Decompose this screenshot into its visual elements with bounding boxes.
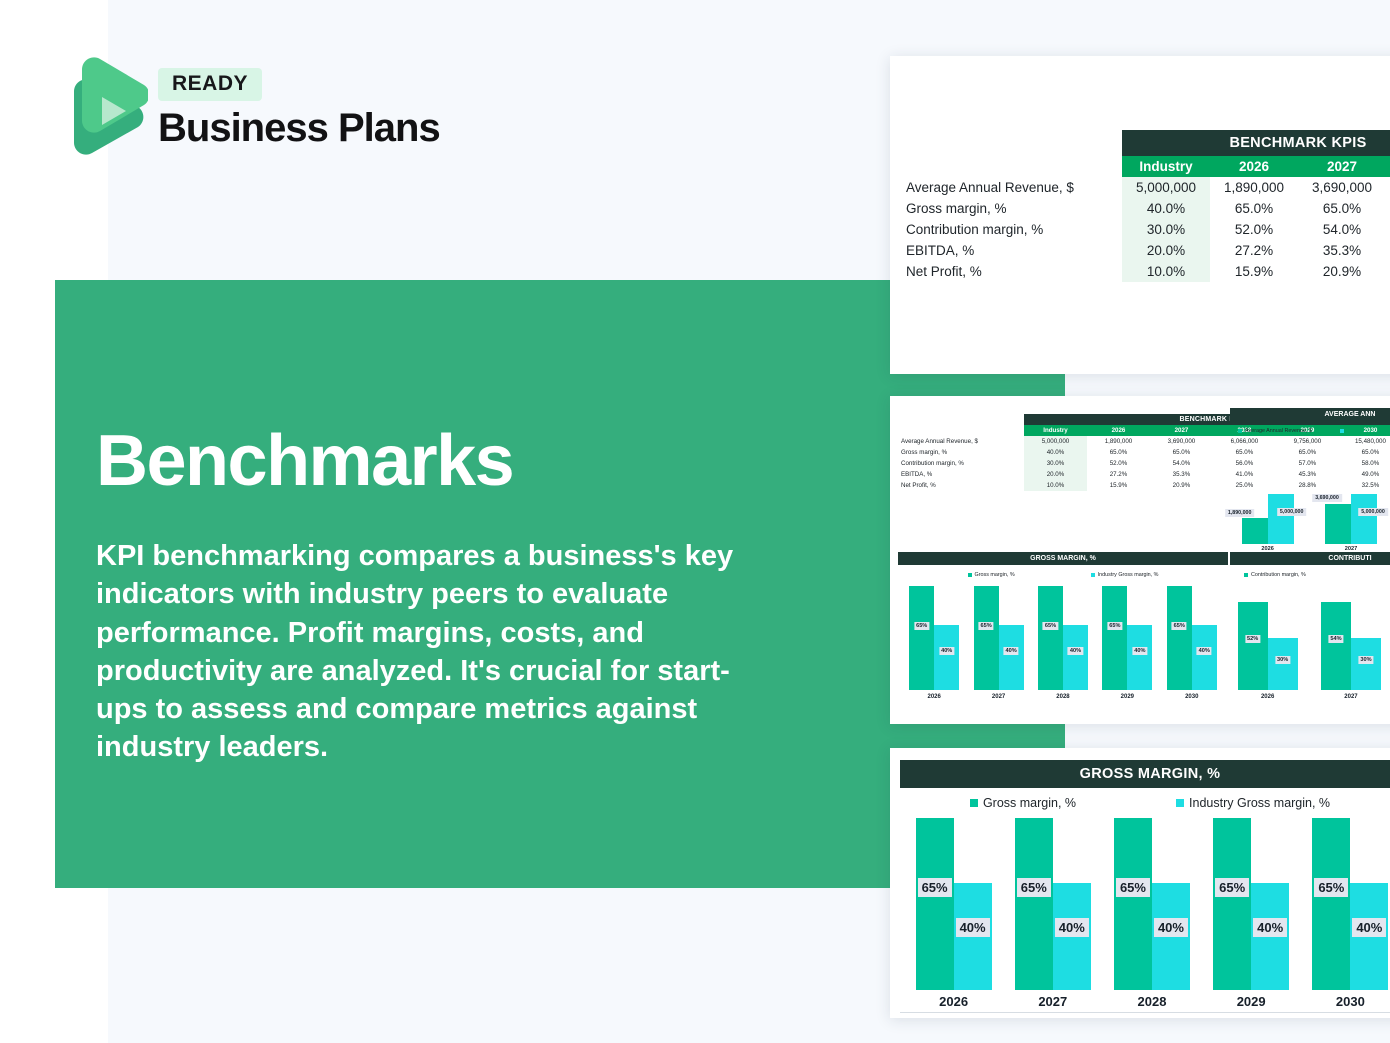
legend-swatch-icon <box>970 799 978 807</box>
col-header-industry: Industry <box>1122 156 1210 177</box>
chart-plot-area: 52% 30% 54% 30% 56% <box>1226 586 1390 690</box>
legend-swatch-icon <box>968 573 972 577</box>
chart-legend: Gross margin, % Industry Gross margin, % <box>900 794 1390 812</box>
benchmark-kpis-table: BENCHMARK KPIS Industry 2026 2027 2028 A… <box>900 130 1390 282</box>
chart-x-axis: 2026 2027 2028 2029 2030 <box>902 694 1224 700</box>
chart-title: GROSS MARGIN, % <box>898 552 1228 565</box>
legend-item: Industry Gross margin, % <box>1176 796 1330 810</box>
bar-gross-margin: 65% <box>1038 586 1063 690</box>
bar-group: 65% 40% <box>1106 818 1198 990</box>
bar-group: 3,690,000 5,000,000 <box>1310 444 1390 544</box>
bar-revenue: 3,690,000 <box>1325 504 1351 544</box>
bar-industry-gross-margin: 40% <box>1063 625 1088 690</box>
ready-badge: READY <box>158 68 262 101</box>
table-row: Average Annual Revenue, $ 5,000,000 1,89… <box>900 177 1390 198</box>
bar-contribution-margin: 54% <box>1321 602 1351 690</box>
brand-logo: READY Business Plans <box>55 50 455 160</box>
dashboard-overview-card: BENCHMARK KPIS Industry 2026 2027 2028 2… <box>890 396 1390 724</box>
table-row: EBITDA, % 20.0% 27.2% 35.3% 41.0% <box>900 240 1390 261</box>
bar-industry-gross-margin: 40% <box>934 625 959 690</box>
bar-group: 65% 40% <box>1096 586 1158 690</box>
bar-group: 65% 40% <box>968 586 1030 690</box>
bar-industry-gross-margin: 40% <box>1053 883 1091 990</box>
bar-industry-gross-margin: 40% <box>1192 625 1217 690</box>
brand-name: Business Plans <box>158 107 440 149</box>
chart-plot-area: 1,890,000 5,000,000 3,690,000 5,000,000 <box>1226 444 1390 544</box>
bar-industry-gross-margin: 40% <box>954 883 992 990</box>
chart-baseline <box>900 1012 1390 1013</box>
page-description: KPI benchmarking compares a business's k… <box>96 537 756 767</box>
legend-item: Contribution margin, % <box>1244 572 1306 578</box>
bar-industry-gross-margin: 40% <box>1251 883 1289 990</box>
chart-x-axis: 2026 2027 2028 <box>1226 694 1390 700</box>
bar-industry: 5,000,000 <box>1351 494 1377 544</box>
table-row: Gross margin, % 40.0% 65.0% 65.0% 65.0% <box>900 198 1390 219</box>
bar-group: 65% 40% <box>1205 818 1297 990</box>
legend-item: Industry Gross margin, % <box>1091 572 1159 578</box>
chart-title: CONTRIBUTI <box>1230 552 1390 565</box>
chart-legend: Average Annual Revenue, $ <box>1230 426 1390 436</box>
legend-item <box>1340 429 1347 433</box>
gross-margin-chart-card: GROSS MARGIN, % Gross margin, % Industry… <box>890 748 1390 1018</box>
table-row: Contribution margin, % 30.0% 52.0% 54.0%… <box>900 219 1390 240</box>
table-title: BENCHMARK KPIS <box>1122 130 1390 156</box>
bar-industry-contribution-margin: 30% <box>1268 638 1298 690</box>
bar-group: 65% 40% <box>1007 818 1099 990</box>
chart-legend: Contribution margin, % <box>1230 570 1390 580</box>
chart-legend: Gross margin, % Industry Gross margin, % <box>898 570 1228 580</box>
bar-group: 65% 40% <box>1032 586 1094 690</box>
col-header-2026: 2026 <box>1210 156 1298 177</box>
slide-canvas: READY Business Plans Benchmarks KPI benc… <box>0 0 1390 1043</box>
chart-title: AVERAGE ANN <box>1230 408 1390 421</box>
legend-swatch-icon <box>1340 429 1344 433</box>
bar-contribution-margin: 52% <box>1238 602 1268 690</box>
bar-group: 65% 40% <box>903 586 965 690</box>
legend-swatch-icon <box>1238 429 1242 433</box>
bar-gross-margin: 65% <box>1167 586 1192 690</box>
table-header-row: Industry 2026 2027 2028 <box>900 156 1390 177</box>
table-title-row: BENCHMARK KPIS <box>900 130 1390 156</box>
bar-industry: 5,000,000 <box>1268 494 1294 544</box>
page-title: Benchmarks <box>96 425 796 497</box>
benchmark-table-card: BENCHMARK KPIS Industry 2026 2027 2028 A… <box>890 56 1390 374</box>
bar-industry-contribution-margin: 30% <box>1351 638 1381 690</box>
play-logo-icon <box>60 55 148 155</box>
bar-gross-margin: 65% <box>1312 818 1350 990</box>
bar-group: 65% 40% <box>1304 818 1390 990</box>
legend-item: Gross margin, % <box>970 796 1076 810</box>
chart-x-axis: 2026 2027 2028 2029 2030 <box>904 994 1390 1009</box>
brand-wordmark: READY Business Plans <box>158 68 440 149</box>
bar-gross-margin: 65% <box>1213 818 1251 990</box>
legend-swatch-icon <box>1176 799 1184 807</box>
bar-industry-gross-margin: 40% <box>999 625 1024 690</box>
table-row: Net Profit, % 10.0% 15.9% 20.9% 25.0% <box>900 261 1390 282</box>
bar-gross-margin: 65% <box>916 818 954 990</box>
bar-gross-margin: 65% <box>1015 818 1053 990</box>
bar-industry-gross-margin: 40% <box>1152 883 1190 990</box>
legend-item: Average Annual Revenue, $ <box>1238 428 1312 434</box>
bar-group: 54% 30% <box>1310 586 1390 690</box>
col-header-2027: 2027 <box>1298 156 1386 177</box>
bar-revenue: 1,890,000 <box>1242 518 1268 544</box>
bar-industry-gross-margin: 40% <box>1127 625 1152 690</box>
bar-group: 65% 40% <box>908 818 1000 990</box>
bar-gross-margin: 65% <box>974 586 999 690</box>
legend-swatch-icon <box>1091 573 1095 577</box>
bar-group: 1,890,000 5,000,000 <box>1227 444 1309 544</box>
bar-group: 52% 30% <box>1227 586 1309 690</box>
bar-group: 65% 40% <box>1161 586 1223 690</box>
legend-item: Gross margin, % <box>968 572 1015 578</box>
chart-plot-area: 65% 40% 65% 40% 65% <box>902 586 1224 690</box>
bar-gross-margin: 65% <box>1114 818 1152 990</box>
bar-gross-margin: 65% <box>1102 586 1127 690</box>
col-header-2028: 2028 <box>1386 156 1390 177</box>
chart-title: GROSS MARGIN, % <box>900 760 1390 788</box>
bar-industry-gross-margin: 40% <box>1350 883 1388 990</box>
chart-plot-area: 65% 40% 65% 40% 65% <box>904 818 1390 990</box>
legend-swatch-icon <box>1244 573 1248 577</box>
bar-gross-margin: 65% <box>909 586 934 690</box>
